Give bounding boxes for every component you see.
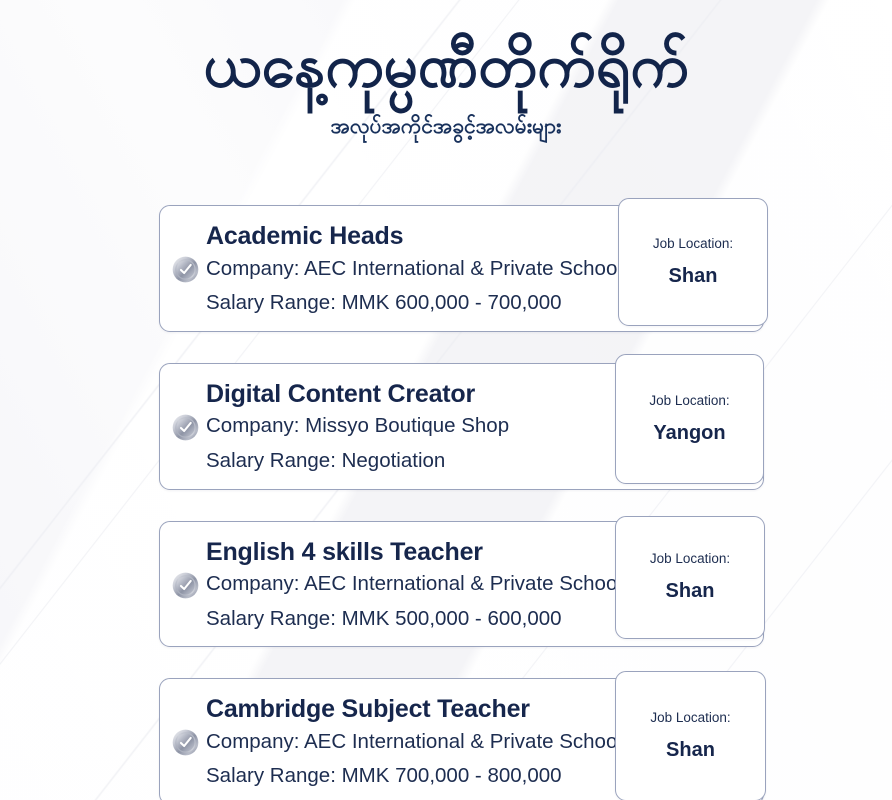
page-title: ယနေ့ကုမ္ပဏီတိုက်ရိုက် <box>0 34 892 97</box>
verified-check-icon <box>172 256 199 283</box>
job-card[interactable]: Digital Content Creator Company: Missyo … <box>159 363 764 490</box>
job-location-value: Yangon <box>653 421 725 445</box>
verified-check-icon <box>172 572 199 599</box>
page-subtitle: အလုပ်အကိုင်အခွင့်အလမ်းများ <box>0 113 892 144</box>
job-location-badge[interactable]: Job Location: Yangon <box>615 354 764 484</box>
verified-check-icon <box>172 414 199 441</box>
verified-check-icon <box>172 729 199 756</box>
job-location-label: Job Location: <box>649 393 729 409</box>
job-location-value: Shan <box>666 579 715 603</box>
job-location-label: Job Location: <box>650 710 730 726</box>
job-location-label: Job Location: <box>653 236 733 252</box>
job-location-badge[interactable]: Job Location: Shan <box>615 671 766 800</box>
job-listing-page: ယနေ့ကုမ္ပဏီတိုက်ရိုက် အလုပ်အကိုင်အခွင့်အ… <box>0 0 892 800</box>
job-location-value: Shan <box>669 264 718 288</box>
job-location-label: Job Location: <box>650 551 730 567</box>
job-card[interactable]: English 4 skills Teacher Company: AEC In… <box>159 521 764 648</box>
page-header: ယနေ့ကုမ္ပဏီတိုက်ရိုက် အလုပ်အကိုင်အခွင့်အ… <box>0 0 892 144</box>
job-location-value: Shan <box>666 738 715 762</box>
job-location-badge[interactable]: Job Location: Shan <box>618 198 768 326</box>
job-list: Academic Heads Company: AEC Internationa… <box>159 205 764 800</box>
job-card[interactable]: Cambridge Subject Teacher Company: AEC I… <box>159 678 764 800</box>
job-location-badge[interactable]: Job Location: Shan <box>615 516 765 639</box>
job-card[interactable]: Academic Heads Company: AEC Internationa… <box>159 205 764 332</box>
